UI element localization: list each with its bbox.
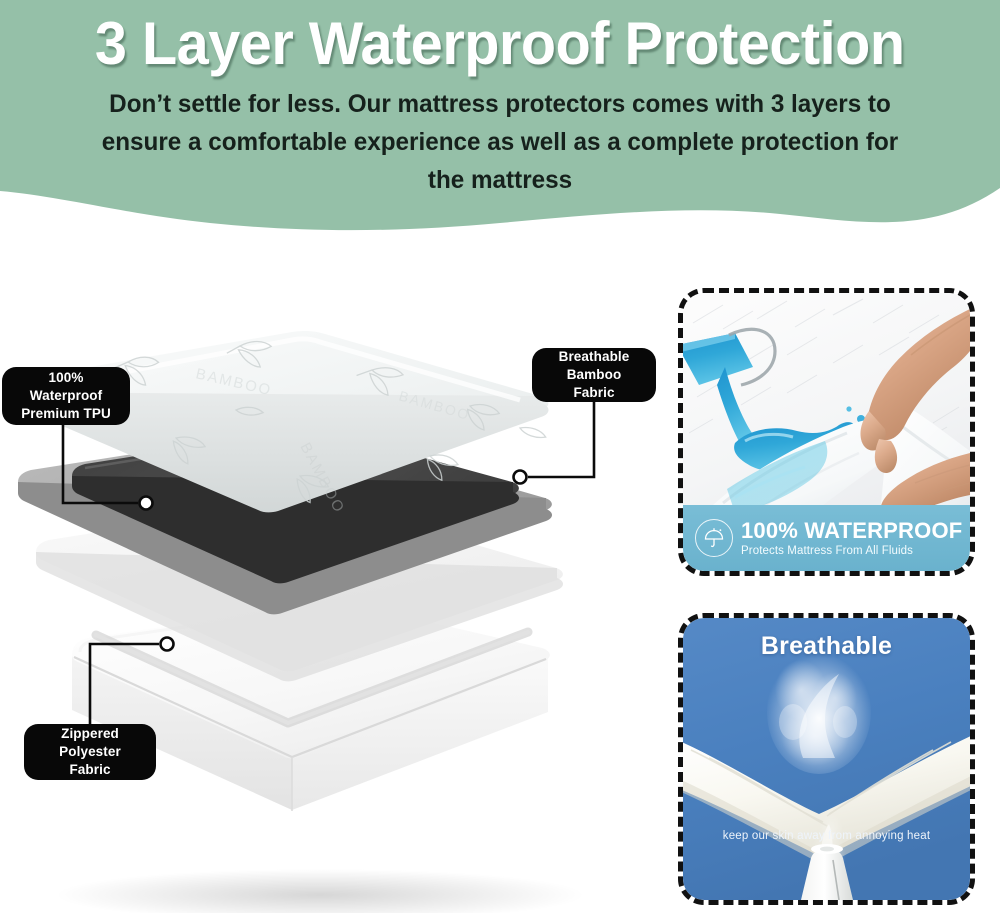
page-subtitle: Don’t settle for less. Our mattress prot… xyxy=(83,85,917,199)
callout-bamboo-line1: Breathable Bamboo xyxy=(559,349,630,382)
header-banner: 3 Layer Waterproof Protection Don’t sett… xyxy=(0,0,1000,235)
callout-bamboo-line2: Fabric xyxy=(573,385,614,400)
breathable-title: Breathable xyxy=(683,632,970,661)
steam-upper xyxy=(767,650,871,774)
breathable-photo-panel: Breathable keep our skin away from annoy… xyxy=(678,613,975,905)
waterproof-photo-panel: 100% WATERPROOF Protects Mattress From A… xyxy=(678,288,975,576)
callout-tpu-line2: Premium TPU xyxy=(21,406,111,421)
page-title: 3 Layer Waterproof Protection xyxy=(95,12,905,75)
callout-breathable-bamboo: Breathable Bamboo Fabric xyxy=(532,348,656,402)
tpu-marker-dot xyxy=(140,497,153,510)
waterproof-caption-subtitle: Protects Mattress From All Fluids xyxy=(741,545,962,557)
callout-waterproof-tpu: 100% Waterproof Premium TPU xyxy=(2,367,130,425)
callout-zipper-line2: Fabric xyxy=(69,762,110,777)
waterproof-caption-band: 100% WATERPROOF Protects Mattress From A… xyxy=(683,505,970,571)
callout-zippered-polyester: Zippered Polyester Fabric xyxy=(24,724,156,780)
waterproof-caption-title: 100% WATERPROOF xyxy=(741,519,962,542)
bamboo-marker-dot xyxy=(514,471,527,484)
zipper-marker-dot xyxy=(161,638,174,651)
callout-zipper-line1: Zippered Polyester xyxy=(59,726,121,759)
callout-tpu-line1: 100% Waterproof xyxy=(30,370,103,403)
breathable-subtitle: keep our skin away from annoying heat xyxy=(683,830,970,842)
umbrella-rain-icon xyxy=(695,519,733,557)
